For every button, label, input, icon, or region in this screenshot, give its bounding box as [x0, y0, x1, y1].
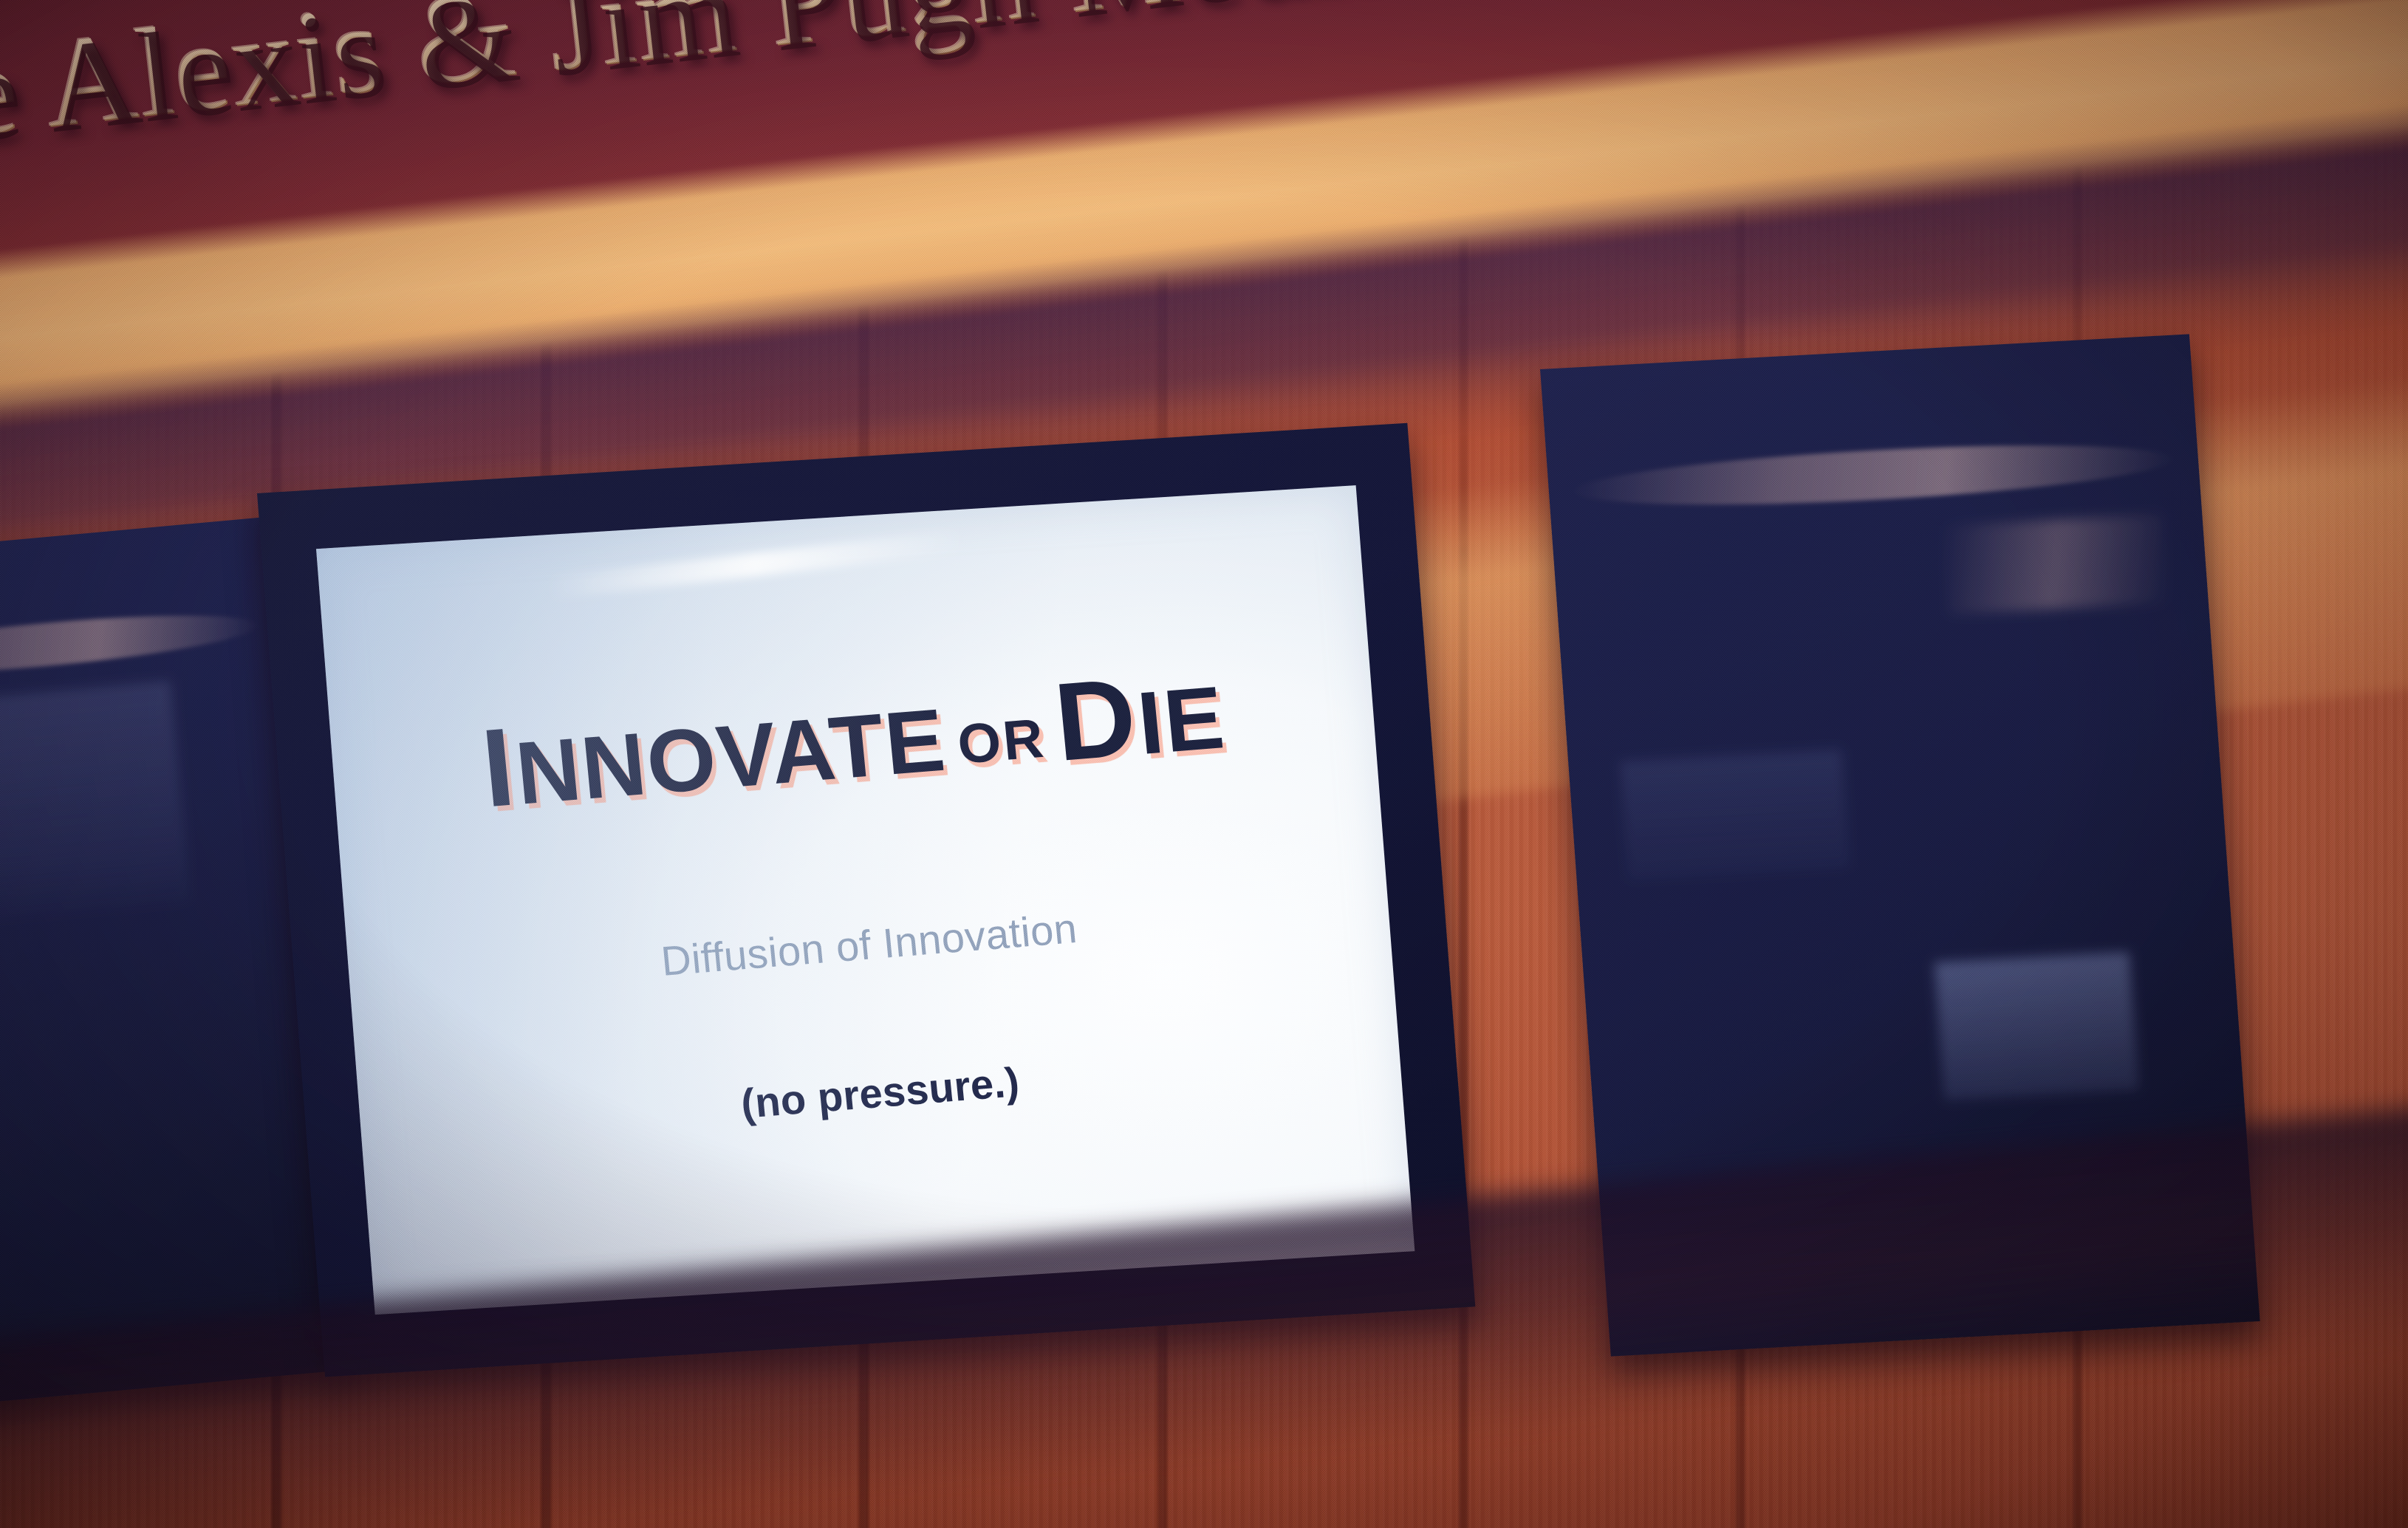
presentation-slide[interactable]: INNOVATEORDIE Diffusion of Innovation (n… [316, 485, 1415, 1315]
slide-title-ie: IE [1133, 668, 1229, 773]
slide-subtitle: Diffusion of Innovation [659, 904, 1079, 985]
slide-title-cap-d: D [1050, 654, 1143, 784]
display-left-glare [0, 604, 259, 685]
slide-title-cap-i: I [476, 704, 521, 830]
slide-title: INNOVATEORDIE [478, 658, 1229, 819]
display-right-highlight [1943, 514, 2169, 614]
display-right-glare [1573, 434, 2174, 516]
display-left-reflection [0, 680, 191, 922]
display-main[interactable]: INNOVATEORDIE Diffusion of Innovation (n… [257, 423, 1475, 1377]
slide-title-or: OR [943, 705, 1059, 776]
photo-scene: he Alexis & Jim Pugh Media Innovation La… [0, 0, 2408, 1528]
display-right-reflection-lower [1935, 952, 2139, 1100]
display-right[interactable] [1540, 334, 2260, 1356]
slide-note: (no pressure.) [739, 1058, 1022, 1128]
display-right-reflection-upper [1621, 750, 1850, 880]
slide-title-nnovate: NNOVATE [511, 691, 950, 823]
